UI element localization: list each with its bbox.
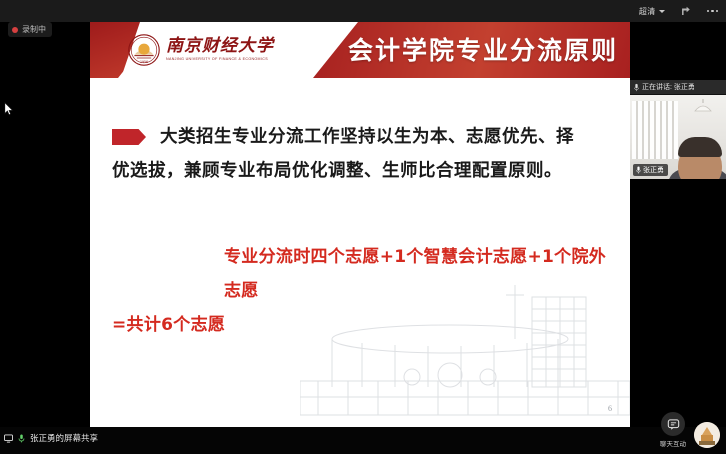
slide-title: 会计学院专业分流原则 <box>348 31 618 67</box>
recording-label: 录制中 <box>22 24 46 35</box>
bullet-paragraph-row: 大类招生专业分流工作坚持以生为本、志愿优先、择 <box>112 120 612 154</box>
university-name-en: NANJING UNIVERSITY OF FINANCE & ECONOMIC… <box>166 58 274 62</box>
participant-hair <box>678 137 722 157</box>
active-speaker-bar: 正在讲话: 张正勇 <box>630 80 726 95</box>
slide-header-banner: 1956 南京财经大学 NANJING UNIVERSITY OF FINANC… <box>90 22 630 78</box>
letterbox-left <box>0 22 90 427</box>
window-blinds <box>632 101 678 159</box>
share-screen-icon[interactable] <box>679 4 693 18</box>
monitor-icon <box>4 434 13 443</box>
university-name-block: 南京财经大学 NANJING UNIVERSITY OF FINANCE & E… <box>166 38 274 62</box>
screen-share-indicator: 张正勇的屏幕共享 <box>4 432 98 444</box>
active-speaker-label: 正在讲话: 张正勇 <box>642 82 695 92</box>
speaker-video-panel[interactable]: 正在讲话: 张正勇 张正勇 <box>630 80 726 179</box>
highlight-text-block: 专业分流时四个志愿+1个智慧会计志愿+1个院外志愿 =共计6个志愿 <box>112 240 617 342</box>
highlight-line-2: =共计6个志愿 <box>112 308 617 342</box>
slide-canvas: 1956 南京财经大学 NANJING UNIVERSITY OF FINANC… <box>90 22 630 427</box>
chevron-down-icon <box>659 10 665 13</box>
slide-body: 大类招生专业分流工作坚持以生为本、志愿优先、择 优选拔，兼顾专业布局优化调整、生… <box>112 120 612 188</box>
more-dot <box>707 10 710 13</box>
chat-button[interactable]: 聊天互动 <box>660 412 686 448</box>
paragraph-line-1: 大类招生专业分流工作坚持以生为本、志愿优先、择 <box>160 120 612 154</box>
video-quality-label: 超清 <box>639 6 656 17</box>
university-crest-icon: 1956 <box>128 34 160 66</box>
chat-button-label: 聊天互动 <box>660 438 686 448</box>
meeting-window: 超清 录制中 <box>0 0 726 454</box>
microphone-icon <box>636 166 641 174</box>
recording-status-badge[interactable]: 录制中 <box>8 22 52 37</box>
more-dot <box>716 10 719 13</box>
svg-text:1956: 1956 <box>140 60 148 64</box>
participant-video-tile[interactable]: 张正勇 <box>630 95 726 179</box>
bottom-right-actions: 聊天互动 <box>660 412 720 448</box>
participant-name-tag: 张正勇 <box>633 164 668 176</box>
red-arrow-bullet-icon <box>112 129 146 145</box>
university-name-cn: 南京财经大学 <box>166 38 274 55</box>
avatar-image <box>694 422 720 448</box>
mouse-cursor-icon <box>4 102 14 121</box>
university-logo: 1956 南京财经大学 NANJING UNIVERSITY OF FINANC… <box>128 34 274 66</box>
avatar[interactable] <box>694 422 720 448</box>
slide-page-number: 6 <box>608 404 612 413</box>
meeting-top-toolbar: 超清 <box>0 0 726 22</box>
chat-bubble-icon <box>661 412 685 436</box>
microphone-icon <box>17 434 26 443</box>
screen-share-label: 张正勇的屏幕共享 <box>30 432 98 444</box>
participant-name: 张正勇 <box>643 165 664 175</box>
ceiling-lamp-icon <box>692 99 714 119</box>
more-options-icon[interactable] <box>707 10 719 13</box>
recording-dot-icon <box>12 27 18 33</box>
paragraph-line-2: 优选拔，兼顾专业布局优化调整、生师比合理配置原则。 <box>112 154 612 188</box>
video-quality-dropdown[interactable]: 超清 <box>639 6 665 17</box>
shared-screen-slide[interactable]: 1956 南京财经大学 NANJING UNIVERSITY OF FINANC… <box>90 22 630 427</box>
microphone-icon <box>634 83 639 92</box>
highlight-line-1: 专业分流时四个志愿+1个智慧会计志愿+1个院外志愿 <box>112 240 617 308</box>
more-dot <box>711 10 714 13</box>
